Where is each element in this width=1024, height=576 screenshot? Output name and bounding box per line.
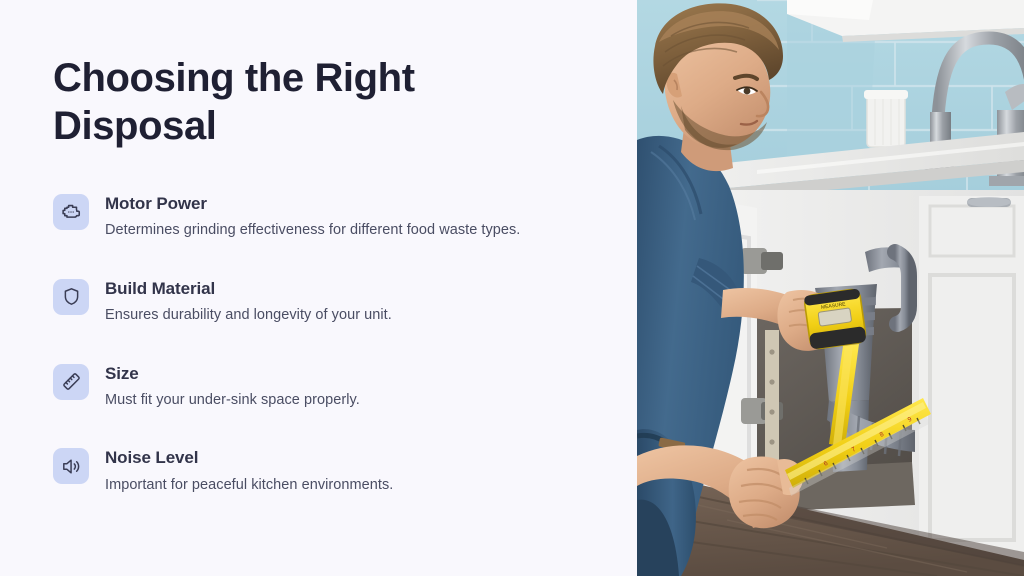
feature-item-build-material: Build Material Ensures durability and lo… bbox=[53, 277, 585, 326]
content-panel: Choosing the Right Disposal Motor Power … bbox=[0, 0, 637, 576]
feature-text: Build Material Ensures durability and lo… bbox=[105, 277, 392, 326]
speaker-volume-icon bbox=[53, 448, 89, 484]
feature-title: Build Material bbox=[105, 278, 392, 299]
feature-description: Important for peaceful kitchen environme… bbox=[105, 476, 393, 496]
feature-title: Motor Power bbox=[105, 193, 520, 214]
feature-text: Size Must fit your under-sink space prop… bbox=[105, 362, 360, 411]
page-title: Choosing the Right Disposal bbox=[53, 54, 473, 150]
feature-description: Must fit your under-sink space properly. bbox=[105, 391, 360, 411]
photo-illustration: MEASURE bbox=[637, 0, 1024, 576]
feature-item-noise-level: Noise Level Important for peaceful kitch… bbox=[53, 446, 585, 495]
engine-icon bbox=[53, 194, 89, 230]
plumber-measuring-under-sink-photo: MEASURE bbox=[637, 0, 1024, 576]
feature-item-size: Size Must fit your under-sink space prop… bbox=[53, 362, 585, 411]
feature-text: Motor Power Determines grinding effectiv… bbox=[105, 192, 520, 241]
feature-text: Noise Level Important for peaceful kitch… bbox=[105, 446, 393, 495]
feature-description: Determines grinding effectiveness for di… bbox=[105, 221, 520, 241]
feature-description: Ensures durability and longevity of your… bbox=[105, 306, 392, 326]
feature-title: Noise Level bbox=[105, 447, 393, 468]
feature-title: Size bbox=[105, 363, 360, 384]
slide-root: Choosing the Right Disposal Motor Power … bbox=[0, 0, 1024, 576]
feature-list: Motor Power Determines grinding effectiv… bbox=[53, 192, 585, 495]
ruler-icon bbox=[53, 364, 89, 400]
feature-item-motor-power: Motor Power Determines grinding effectiv… bbox=[53, 192, 585, 241]
shield-icon bbox=[53, 279, 89, 315]
